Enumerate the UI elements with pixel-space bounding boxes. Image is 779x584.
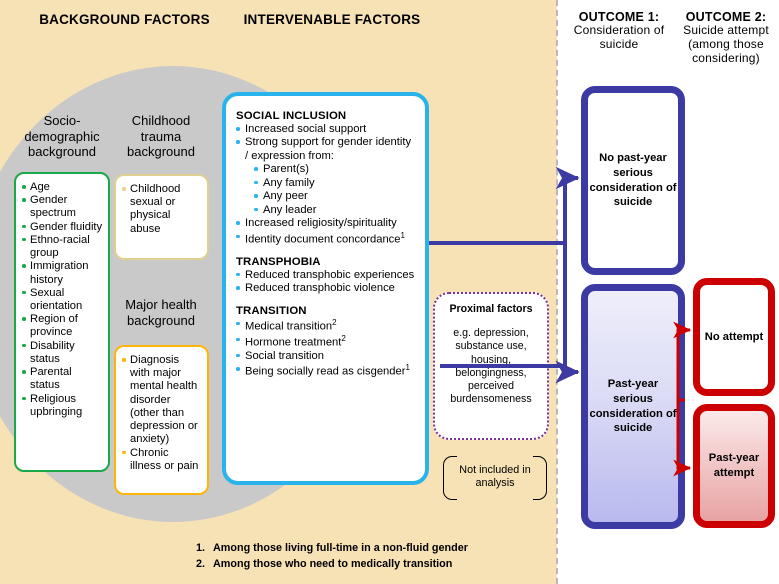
list-item: Diagnosis with major mental health disor… xyxy=(122,354,202,447)
footnote-text: Among those who need to medically transi… xyxy=(213,557,452,573)
note-not-included-in-analysis: Not included in analysis xyxy=(443,456,547,498)
footnotes: 1.Among those living full-time in a non-… xyxy=(196,541,526,572)
diagram-canvas: BACKGROUND FACTORS INTERVENABLE FACTORS … xyxy=(0,0,779,584)
proximal-factors-title: Proximal factors xyxy=(435,303,547,316)
section-heading: TRANSITION xyxy=(236,305,415,317)
footnote-number: 1. xyxy=(196,541,213,557)
footnote-marker: 2 xyxy=(341,334,345,343)
list-item: Increased religiosity/spirituality xyxy=(236,217,415,230)
section-divider-dashed xyxy=(556,0,558,584)
list-item: Immigration history xyxy=(22,260,103,286)
outcome-2-subtitle: Suicide attempt (among those considering… xyxy=(674,24,778,65)
header-outcome-1: OUTCOME 1: Consideration of suicide xyxy=(565,10,673,52)
list-item: Parental status xyxy=(22,366,103,392)
section-list: Reduced transphobic experiencesReduced t… xyxy=(236,269,415,296)
section-heading: TRANSPHOBIA xyxy=(236,256,415,268)
label-major-health-background: Major health background xyxy=(113,297,209,328)
intervenable-sections: SOCIAL INCLUSIONIncreased social support… xyxy=(226,110,425,380)
list-item: Reduced transphobic violence xyxy=(236,282,415,295)
list-item: Strong support for gender identity / exp… xyxy=(236,136,415,163)
section-gap xyxy=(236,247,415,256)
list-item: Medical transition2 xyxy=(236,318,415,334)
list-item: Childhood sexual or physical abuse xyxy=(122,183,202,236)
list-item: Social transition xyxy=(236,350,415,363)
list-childhood-trauma-items: Childhood sexual or physical abuse xyxy=(116,176,207,236)
section-gap xyxy=(236,296,415,305)
footnote-row: 2.Among those who need to medically tran… xyxy=(196,557,526,573)
footnote-text: Among those living full-time in a non-fl… xyxy=(213,541,468,557)
outcome-1-title: OUTCOME 1: xyxy=(579,10,659,24)
list-sociodemographic-items: AgeGender spectrumGender fluidityEthno-r… xyxy=(16,174,108,419)
box-childhood-trauma-factors[interactable]: Childhood sexual or physical abuse xyxy=(114,174,209,260)
list-major-health-items: Diagnosis with major mental health disor… xyxy=(116,347,207,473)
box-proximal-factors[interactable]: Proximal factors e.g. depression, substa… xyxy=(433,292,549,440)
list-item: Gender spectrum xyxy=(22,194,103,220)
box-major-health-factors[interactable]: Diagnosis with major mental health disor… xyxy=(114,345,209,495)
section-heading: SOCIAL INCLUSION xyxy=(236,110,415,122)
list-item: Region of province xyxy=(22,313,103,339)
section-list: Medical transition2Hormone treatment2Soc… xyxy=(236,318,415,380)
outcome-1-subtitle: Consideration of suicide xyxy=(565,24,673,52)
list-item: Hormone treatment2 xyxy=(236,334,415,350)
label-sociodemographic-background: Socio-demographic background xyxy=(14,113,110,160)
list-item: Any family xyxy=(254,177,415,190)
list-item: Any leader xyxy=(254,204,415,217)
list-item: Increased social support xyxy=(236,123,415,136)
box-intervenable-factors[interactable]: SOCIAL INCLUSIONIncreased social support… xyxy=(222,92,429,485)
header-outcome-2: OUTCOME 2: Suicide attempt (among those … xyxy=(674,10,778,66)
footnote-marker: 2 xyxy=(332,318,336,327)
list-item: Religious upbringing xyxy=(22,393,103,419)
label-childhood-trauma-background: Childhood trauma background xyxy=(113,113,209,160)
box-past-year-attempt[interactable]: Past-year attempt xyxy=(693,404,775,528)
footnote-marker: 1 xyxy=(400,231,404,240)
box-past-year-serious-consideration[interactable]: Past-year serious consideration of suici… xyxy=(581,284,685,529)
header-intervenable-factors: INTERVENABLE FACTORS xyxy=(228,12,436,28)
list-item: Age xyxy=(22,181,103,194)
list-item: Reduced transphobic experiences xyxy=(236,269,415,282)
not-included-label: Not included in analysis xyxy=(443,464,547,491)
section-list: Increased social supportStrong support f… xyxy=(236,123,415,247)
list-item: Gender fluidity xyxy=(22,221,103,234)
outcome-2-title: OUTCOME 2: xyxy=(686,10,766,24)
footnote-row: 1.Among those living full-time in a non-… xyxy=(196,541,526,557)
list-item: Parent(s) xyxy=(254,163,415,176)
list-item: Ethno-racial group xyxy=(22,234,103,260)
box-no-past-year-serious-consideration[interactable]: No past-year serious consideration of su… xyxy=(581,86,685,275)
list-item: Identity document concordance1 xyxy=(236,231,415,247)
list-item: Any peer xyxy=(254,190,415,203)
list-item: Being socially read as cisgender1 xyxy=(236,363,415,379)
list-item: Sexual orientation xyxy=(22,287,103,313)
proximal-factors-body: e.g. depression, substance use, housing,… xyxy=(435,327,547,406)
list-item: Disability status xyxy=(22,340,103,366)
box-no-attempt[interactable]: No attempt xyxy=(693,278,775,396)
header-background-factors: BACKGROUND FACTORS xyxy=(22,12,227,28)
list-item: Chronic illness or pain xyxy=(122,447,202,473)
footnote-marker: 1 xyxy=(405,363,409,372)
box-sociodemographic-factors[interactable]: AgeGender spectrumGender fluidityEthno-r… xyxy=(14,172,110,472)
footnote-number: 2. xyxy=(196,557,213,573)
